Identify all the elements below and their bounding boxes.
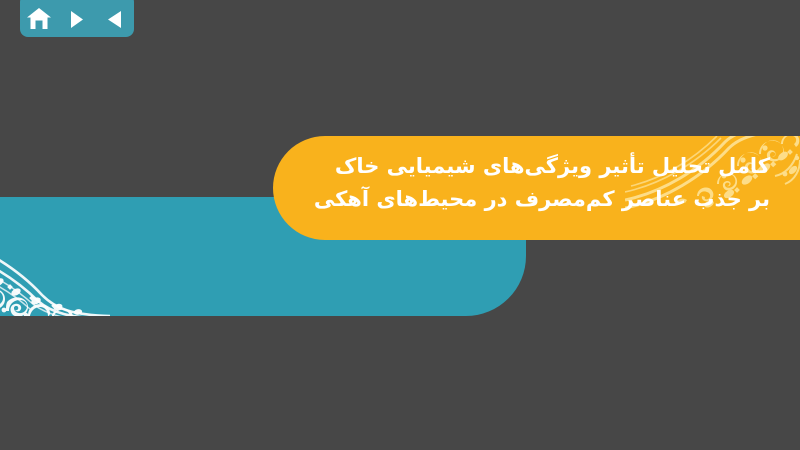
triangle-left-icon <box>107 10 124 29</box>
title-line-1: کامل تحلیل تأثیر ویژگی‌های شیمیایی خاک <box>310 150 770 183</box>
orange-title-panel: کامل تحلیل تأثیر ویژگی‌های شیمیایی خاک ب… <box>273 136 800 240</box>
arabesque-ornament-icon <box>0 197 110 316</box>
forward-button[interactable] <box>63 6 91 32</box>
presentation-slide: کامل تحلیل تأثیر ویژگی‌های شیمیایی خاک ب… <box>0 0 800 450</box>
page-title: کامل تحلیل تأثیر ویژگی‌های شیمیایی خاک ب… <box>310 150 770 216</box>
navigation-bar <box>20 0 134 37</box>
triangle-right-icon <box>70 10 84 29</box>
home-button[interactable] <box>25 6 53 32</box>
title-line-2: بر جذب عناصر کم‌مصرف در محیط‌های آهکی <box>310 183 770 216</box>
back-button[interactable] <box>101 6 129 32</box>
home-icon <box>27 8 51 30</box>
